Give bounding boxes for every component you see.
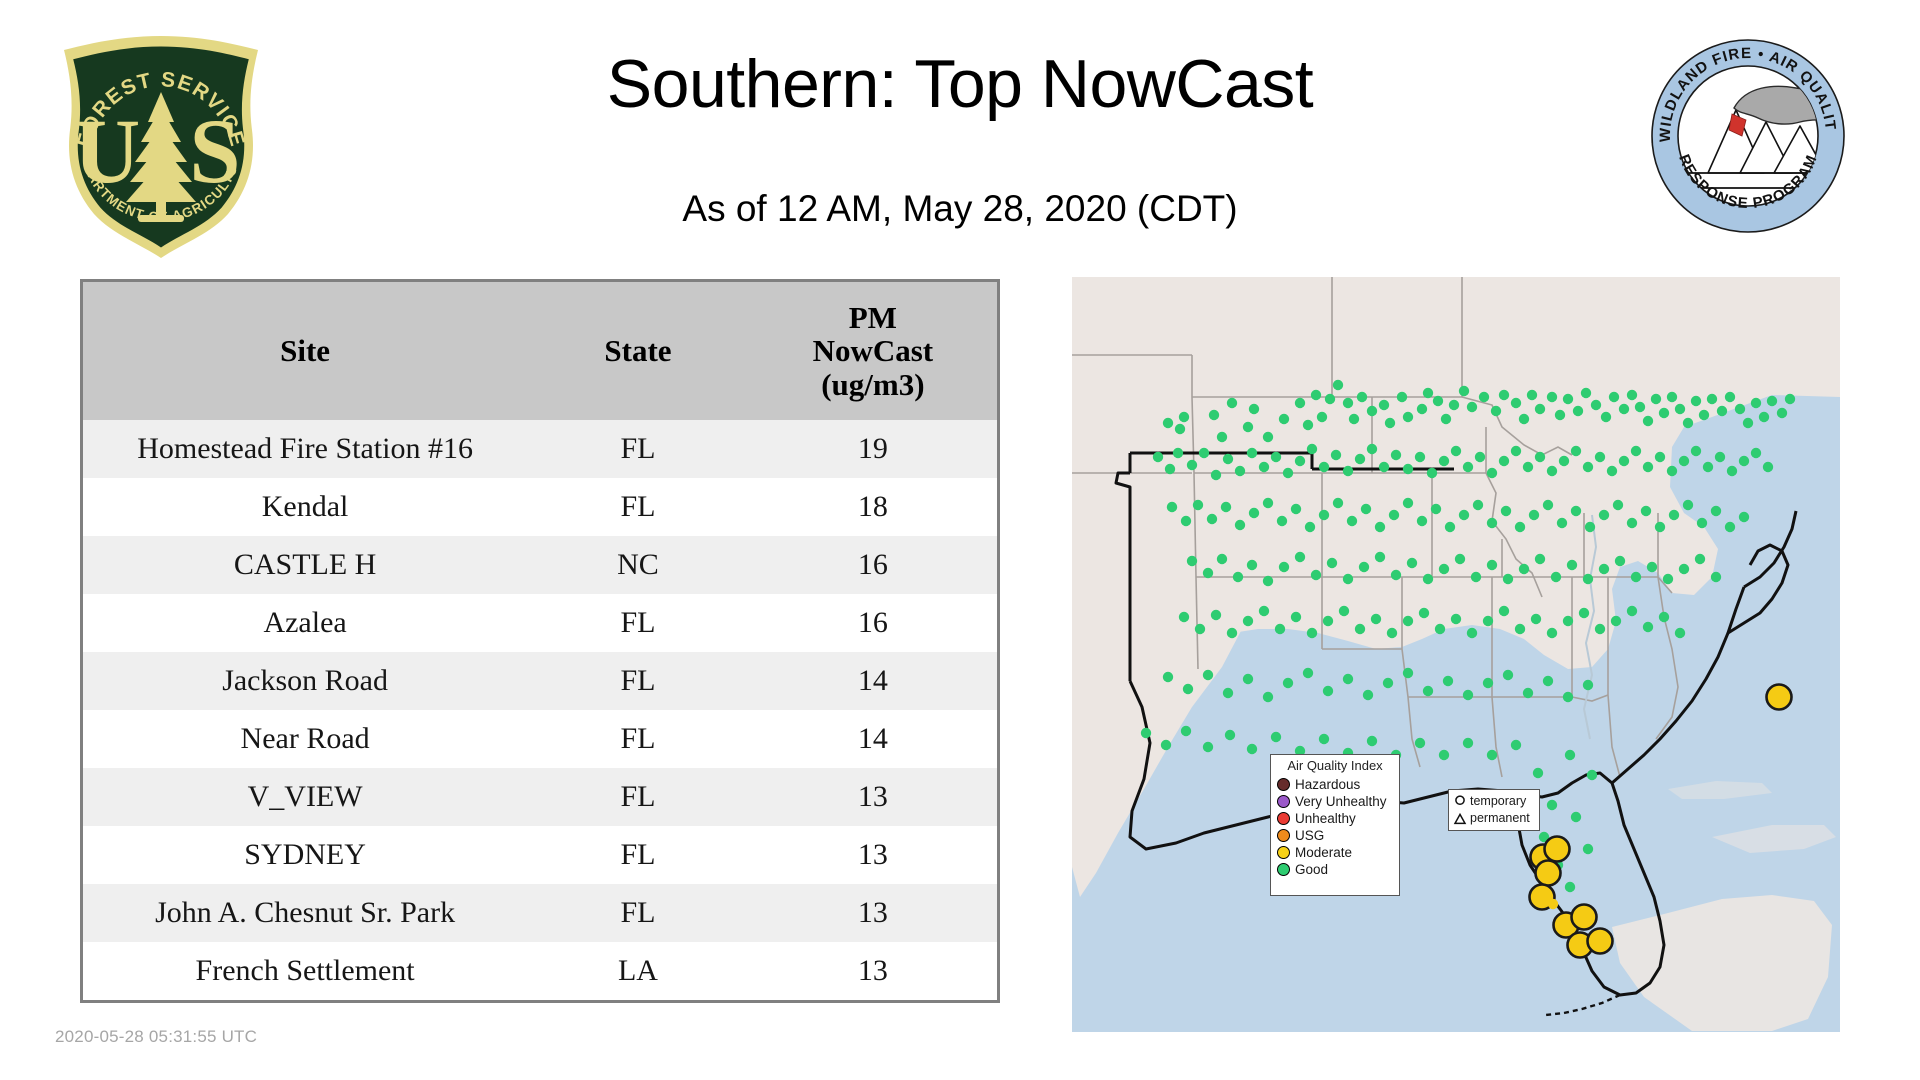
monitor-dot-good[interactable] — [1679, 564, 1689, 574]
monitor-dot-good[interactable] — [1785, 394, 1795, 404]
monitor-dot-good[interactable] — [1275, 624, 1285, 634]
monitor-dot-good[interactable] — [1161, 740, 1171, 750]
monitor-dot-good[interactable] — [1187, 556, 1197, 566]
monitor-dot-good[interactable] — [1311, 390, 1321, 400]
monitor-dot-good[interactable] — [1739, 456, 1749, 466]
monitor-dot-good[interactable] — [1499, 390, 1509, 400]
monitor-dot-good[interactable] — [1715, 452, 1725, 462]
table-row: KendalFL18 — [83, 478, 997, 536]
monitor-dot-good[interactable] — [1641, 506, 1651, 516]
monitor-dot-good[interactable] — [1383, 678, 1393, 688]
monitor-dot-good[interactable] — [1347, 516, 1357, 526]
monitor-dot-good[interactable] — [1291, 612, 1301, 622]
monitor-dot-good[interactable] — [1163, 418, 1173, 428]
monitor-dot-good[interactable] — [1475, 452, 1485, 462]
monitor-dot-good[interactable] — [1247, 448, 1257, 458]
cell-pm-nowcast: 19 — [749, 420, 997, 478]
monitor-dot-moderate[interactable] — [1588, 929, 1613, 954]
monitor-dot-good[interactable] — [1295, 552, 1305, 562]
monitor-dot-good[interactable] — [1343, 674, 1353, 684]
monitor-dot-good[interactable] — [1523, 462, 1533, 472]
monitor-dot-good[interactable] — [1511, 740, 1521, 750]
monitor-dot-good[interactable] — [1327, 558, 1337, 568]
monitor-dot-good[interactable] — [1403, 464, 1413, 474]
site-type-temporary-label: temporary — [1470, 795, 1526, 808]
monitor-dot-good[interactable] — [1163, 672, 1173, 682]
monitor-dot-good[interactable] — [1235, 520, 1245, 530]
monitor-dot-good[interactable] — [1675, 404, 1685, 414]
monitor-dot-good[interactable] — [1711, 572, 1721, 582]
cell-site: Kendal — [83, 478, 527, 536]
monitor-dot-good[interactable] — [1295, 456, 1305, 466]
monitor-dot-good[interactable] — [1449, 400, 1459, 410]
monitor-dot-good[interactable] — [1519, 414, 1529, 424]
monitor-dot-good[interactable] — [1533, 768, 1543, 778]
monitor-dot-good[interactable] — [1499, 456, 1509, 466]
monitor-dot-good[interactable] — [1379, 462, 1389, 472]
monitor-dot-good[interactable] — [1403, 668, 1413, 678]
monitor-dot-moderate[interactable] — [1767, 685, 1792, 710]
monitor-dot-good[interactable] — [1419, 608, 1429, 618]
monitor-dot-good[interactable] — [1343, 574, 1353, 584]
monitor-dot-good[interactable] — [1397, 392, 1407, 402]
monitor-dot-good[interactable] — [1631, 572, 1641, 582]
monitor-dot-good[interactable] — [1391, 570, 1401, 580]
monitor-dot-good[interactable] — [1173, 448, 1183, 458]
monitor-dot-good[interactable] — [1331, 450, 1341, 460]
monitor-dot-good[interactable] — [1695, 554, 1705, 564]
monitor-dot-good[interactable] — [1227, 398, 1237, 408]
aqi-legend-dot-icon — [1277, 812, 1290, 825]
monitor-dot-good[interactable] — [1697, 518, 1707, 528]
monitor-dot-good[interactable] — [1643, 416, 1653, 426]
monitor-dot-good[interactable] — [1601, 412, 1611, 422]
table-row: V_VIEWFL13 — [83, 768, 997, 826]
monitor-dot-good[interactable] — [1501, 506, 1511, 516]
monitor-dot-good[interactable] — [1141, 728, 1151, 738]
monitor-dot-good[interactable] — [1247, 744, 1257, 754]
monitor-dot-good[interactable] — [1375, 522, 1385, 532]
monitor-dot-good[interactable] — [1683, 418, 1693, 428]
monitor-dot-good[interactable] — [1669, 510, 1679, 520]
monitor-dot-good[interactable] — [1217, 432, 1227, 442]
monitor-dot-good[interactable] — [1527, 390, 1537, 400]
monitor-dot-good[interactable] — [1581, 388, 1591, 398]
monitor-dot-good[interactable] — [1599, 510, 1609, 520]
monitor-dot-good[interactable] — [1571, 812, 1581, 822]
monitor-dot-good[interactable] — [1667, 466, 1677, 476]
monitor-dot-good[interactable] — [1627, 606, 1637, 616]
monitor-dot-good[interactable] — [1491, 406, 1501, 416]
monitor-dot-good[interactable] — [1199, 448, 1209, 458]
monitor-dot-good[interactable] — [1451, 614, 1461, 624]
monitor-dot-good[interactable] — [1439, 456, 1449, 466]
monitor-dot-good[interactable] — [1263, 498, 1273, 508]
monitor-dot-good[interactable] — [1767, 396, 1777, 406]
monitor-dot-good[interactable] — [1727, 466, 1737, 476]
monitor-dot-good[interactable] — [1609, 392, 1619, 402]
monitor-dot-good[interactable] — [1467, 402, 1477, 412]
monitor-dot-good[interactable] — [1651, 394, 1661, 404]
monitor-dot-good[interactable] — [1455, 554, 1465, 564]
monitor-dot-good[interactable] — [1763, 462, 1773, 472]
monitor-dot-good[interactable] — [1583, 462, 1593, 472]
cell-pm-nowcast: 14 — [749, 710, 997, 768]
monitor-dot-good[interactable] — [1459, 510, 1469, 520]
monitor-dot-good[interactable] — [1403, 498, 1413, 508]
monitor-dot-good[interactable] — [1613, 500, 1623, 510]
monitor-dot-good[interactable] — [1487, 468, 1497, 478]
monitor-dot-good[interactable] — [1655, 522, 1665, 532]
monitor-dot-good[interactable] — [1739, 512, 1749, 522]
monitor-dot-good[interactable] — [1319, 510, 1329, 520]
monitor-dot-good[interactable] — [1319, 734, 1329, 744]
page-title: Southern: Top NowCast — [0, 50, 1920, 118]
monitor-dot-good[interactable] — [1291, 504, 1301, 514]
monitor-dot-good[interactable] — [1279, 414, 1289, 424]
monitor-dot-good[interactable] — [1385, 418, 1395, 428]
monitor-dot-good[interactable] — [1179, 612, 1189, 622]
cell-site: V_VIEW — [83, 768, 527, 826]
monitor-dot-good[interactable] — [1367, 406, 1377, 416]
monitor-dot-good[interactable] — [1557, 518, 1567, 528]
monitor-dot-good[interactable] — [1223, 688, 1233, 698]
monitor-dot-good[interactable] — [1359, 562, 1369, 572]
monitor-dot-good[interactable] — [1511, 446, 1521, 456]
monitor-dot-good[interactable] — [1599, 564, 1609, 574]
monitor-dot-good[interactable] — [1503, 574, 1513, 584]
monitor-dot-good[interactable] — [1307, 444, 1317, 454]
monitor-dot-good[interactable] — [1611, 616, 1621, 626]
monitor-dot-good[interactable] — [1217, 554, 1227, 564]
monitor-dot-good[interactable] — [1531, 614, 1541, 624]
monitor-dot-good[interactable] — [1691, 446, 1701, 456]
monitor-dot-good[interactable] — [1417, 404, 1427, 414]
monitor-dot-good[interactable] — [1431, 504, 1441, 514]
aqi-legend-dot-icon — [1277, 863, 1290, 876]
monitor-dot-good[interactable] — [1487, 560, 1497, 570]
monitor-dot-good[interactable] — [1647, 562, 1657, 572]
monitor-dot-good[interactable] — [1725, 522, 1735, 532]
aqi-legend-item: Very Unhealthy — [1277, 793, 1393, 810]
monitor-dot-good[interactable] — [1181, 726, 1191, 736]
monitor-dot-good[interactable] — [1435, 624, 1445, 634]
monitor-dot-good[interactable] — [1325, 394, 1335, 404]
aqi-legend-label: Hazardous — [1295, 778, 1360, 792]
aqi-legend-dot-icon — [1277, 829, 1290, 842]
monitor-dot-good[interactable] — [1445, 522, 1455, 532]
monitor-dot-good[interactable] — [1181, 516, 1191, 526]
aqi-legend-label: Good — [1295, 863, 1328, 877]
monitor-dot-good[interactable] — [1627, 390, 1637, 400]
monitor-dot-good[interactable] — [1333, 498, 1343, 508]
monitor-dot-good[interactable] — [1303, 420, 1313, 430]
monitor-dot-good[interactable] — [1583, 574, 1593, 584]
monitor-dot-good[interactable] — [1203, 742, 1213, 752]
monitor-dot-good[interactable] — [1439, 750, 1449, 760]
monitor-dot-good[interactable] — [1355, 454, 1365, 464]
monitor-dot-good[interactable] — [1451, 446, 1461, 456]
monitor-dot-good[interactable] — [1699, 410, 1709, 420]
monitor-dot-good[interactable] — [1423, 388, 1433, 398]
monitor-dot-good[interactable] — [1283, 678, 1293, 688]
monitor-dot-good[interactable] — [1503, 670, 1513, 680]
monitor-dot-good[interactable] — [1663, 574, 1673, 584]
monitor-dot-good[interactable] — [1467, 628, 1477, 638]
cell-pm-nowcast: 18 — [749, 478, 997, 536]
monitor-dot-good[interactable] — [1463, 738, 1473, 748]
monitor-dot-good[interactable] — [1227, 628, 1237, 638]
monitor-dot-good[interactable] — [1659, 408, 1669, 418]
aqi-legend-dot-icon — [1277, 795, 1290, 808]
monitor-dot-good[interactable] — [1349, 414, 1359, 424]
monitor-dot-good[interactable] — [1487, 750, 1497, 760]
monitor-dot-good[interactable] — [1583, 680, 1593, 690]
monitor-dot-good[interactable] — [1211, 610, 1221, 620]
monitor-dot-good[interactable] — [1407, 558, 1417, 568]
monitor-dot-good[interactable] — [1403, 412, 1413, 422]
monitor-dot-good[interactable] — [1175, 424, 1185, 434]
monitor-dot-good[interactable] — [1303, 668, 1313, 678]
monitor-dot-good[interactable] — [1735, 404, 1745, 414]
monitor-dot-good[interactable] — [1277, 516, 1287, 526]
monitor-dot-good[interactable] — [1619, 456, 1629, 466]
monitor-dot-good[interactable] — [1563, 692, 1573, 702]
monitor-dot-good[interactable] — [1307, 628, 1317, 638]
cell-site: Azalea — [83, 594, 527, 652]
monitor-dot-good[interactable] — [1683, 500, 1693, 510]
monitor-dot-good[interactable] — [1519, 564, 1529, 574]
monitor-dot-good[interactable] — [1555, 410, 1565, 420]
monitor-dot-good[interactable] — [1627, 518, 1637, 528]
monitor-dot-good[interactable] — [1567, 560, 1577, 570]
monitor-dot-good[interactable] — [1643, 462, 1653, 472]
monitor-dot-good[interactable] — [1579, 608, 1589, 618]
monitor-dot-good[interactable] — [1473, 500, 1483, 510]
monitor-dot-good[interactable] — [1535, 554, 1545, 564]
monitor-dot-good[interactable] — [1305, 522, 1315, 532]
monitor-dot-good[interactable] — [1711, 506, 1721, 516]
monitor-dot-good[interactable] — [1165, 464, 1175, 474]
monitor-dot-good[interactable] — [1759, 412, 1769, 422]
cell-pm-nowcast: 13 — [749, 884, 997, 942]
monitor-dot-good[interactable] — [1427, 468, 1437, 478]
monitor-dot-good[interactable] — [1203, 568, 1213, 578]
monitor-dot-good[interactable] — [1371, 614, 1381, 624]
monitor-dot-good[interactable] — [1379, 400, 1389, 410]
monitor-dot-good[interactable] — [1259, 606, 1269, 616]
monitor-dot-good[interactable] — [1311, 570, 1321, 580]
monitor-dot-good[interactable] — [1717, 406, 1727, 416]
monitor-dot-good[interactable] — [1559, 456, 1569, 466]
monitor-dot-good[interactable] — [1343, 466, 1353, 476]
monitor-dot-good[interactable] — [1389, 510, 1399, 520]
monitor-dot-good[interactable] — [1587, 770, 1597, 780]
monitor-dot-good[interactable] — [1547, 392, 1557, 402]
monitor-dot-good[interactable] — [1511, 398, 1521, 408]
monitor-dot-good[interactable] — [1319, 462, 1329, 472]
monitor-dot-good[interactable] — [1529, 510, 1539, 520]
monitor-dot-good[interactable] — [1441, 414, 1451, 424]
monitor-dot-good[interactable] — [1751, 398, 1761, 408]
monitor-dot-good[interactable] — [1243, 616, 1253, 626]
monitor-dot-good[interactable] — [1249, 508, 1259, 518]
monitor-dot-good[interactable] — [1607, 466, 1617, 476]
monitor-dot-good[interactable] — [1203, 670, 1213, 680]
monitor-dot-good[interactable] — [1547, 628, 1557, 638]
monitor-dot-good[interactable] — [1355, 624, 1365, 634]
monitor-dot-good[interactable] — [1679, 456, 1689, 466]
monitor-dot-good[interactable] — [1183, 684, 1193, 694]
monitor-dot-good[interactable] — [1223, 454, 1233, 464]
monitor-dot-moderate[interactable] — [1536, 861, 1561, 886]
monitor-dot-good[interactable] — [1221, 502, 1231, 512]
monitor-dot-good[interactable] — [1595, 452, 1605, 462]
monitor-dot-good[interactable] — [1483, 678, 1493, 688]
monitor-dot-good[interactable] — [1619, 404, 1629, 414]
monitor-dot-good[interactable] — [1443, 676, 1453, 686]
monitor-dot-good[interactable] — [1523, 688, 1533, 698]
monitor-dot-good[interactable] — [1271, 732, 1281, 742]
monitor-dot-good[interactable] — [1659, 612, 1669, 622]
monitor-dot-good[interactable] — [1243, 422, 1253, 432]
cell-site: Homestead Fire Station #16 — [83, 420, 527, 478]
monitor-dot-good[interactable] — [1471, 572, 1481, 582]
monitor-dot-good[interactable] — [1153, 452, 1163, 462]
monitor-dot-good[interactable] — [1249, 404, 1259, 414]
monitor-dot-good[interactable] — [1459, 386, 1469, 396]
monitor-dot-good[interactable] — [1483, 616, 1493, 626]
monitor-dot-good[interactable] — [1279, 562, 1289, 572]
air-quality-map[interactable]: Air Quality Index HazardousVery Unhealth… — [1072, 277, 1840, 1032]
monitor-dot-good[interactable] — [1565, 882, 1575, 892]
monitor-dot-good[interactable] — [1247, 560, 1257, 570]
monitor-dot-good[interactable] — [1583, 844, 1593, 854]
monitor-dot-good[interactable] — [1563, 394, 1573, 404]
monitor-dot-good[interactable] — [1479, 392, 1489, 402]
monitor-dot-good[interactable] — [1361, 504, 1371, 514]
monitor-dot-good[interactable] — [1691, 396, 1701, 406]
monitor-dot-moderate[interactable] — [1572, 905, 1597, 930]
monitor-dot-good[interactable] — [1417, 516, 1427, 526]
monitor-dot-good[interactable] — [1333, 380, 1343, 390]
monitor-dot-good[interactable] — [1233, 572, 1243, 582]
monitor-dot-good[interactable] — [1211, 470, 1221, 480]
monitor-dot-good[interactable] — [1515, 624, 1525, 634]
monitor-dot-good[interactable] — [1585, 522, 1595, 532]
monitor-dot-good[interactable] — [1703, 462, 1713, 472]
monitor-dot-good[interactable] — [1571, 446, 1581, 456]
aqi-legend-item: Unhealthy — [1277, 810, 1393, 827]
monitor-dot-good[interactable] — [1499, 606, 1509, 616]
monitor-dot-good[interactable] — [1387, 628, 1397, 638]
monitor-dot-good[interactable] — [1631, 446, 1641, 456]
monitor-dot-good[interactable] — [1367, 444, 1377, 454]
monitor-dot-good[interactable] — [1573, 406, 1583, 416]
monitor-dot-good[interactable] — [1667, 392, 1677, 402]
monitor-dot-good[interactable] — [1725, 392, 1735, 402]
monitor-dot-good[interactable] — [1263, 576, 1273, 586]
monitor-dot-good[interactable] — [1591, 400, 1601, 410]
monitor-dot-good[interactable] — [1317, 412, 1327, 422]
monitor-dot-good[interactable] — [1363, 690, 1373, 700]
monitor-dot-good[interactable] — [1343, 398, 1353, 408]
monitor-dot-good[interactable] — [1643, 622, 1653, 632]
monitor-dot-good[interactable] — [1263, 692, 1273, 702]
monitor-dot-good[interactable] — [1547, 466, 1557, 476]
cell-state: FL — [527, 768, 749, 826]
monitor-dot-good[interactable] — [1675, 628, 1685, 638]
monitor-dot-good[interactable] — [1707, 394, 1717, 404]
monitor-dot-good[interactable] — [1375, 552, 1385, 562]
monitor-dot-good[interactable] — [1415, 738, 1425, 748]
monitor-dot-moderate[interactable] — [1545, 837, 1570, 862]
monitor-dot-good[interactable] — [1543, 500, 1553, 510]
monitor-dot-good[interactable] — [1195, 624, 1205, 634]
monitor-dot-good[interactable] — [1777, 408, 1787, 418]
monitor-dot-good[interactable] — [1571, 506, 1581, 516]
monitor-dot-good[interactable] — [1423, 574, 1433, 584]
monitor-dot-good[interactable] — [1595, 624, 1605, 634]
monitor-dot-good[interactable] — [1463, 462, 1473, 472]
cell-pm-nowcast: 16 — [749, 536, 997, 594]
monitor-dot-good[interactable] — [1415, 452, 1425, 462]
monitor-dot-good[interactable] — [1615, 556, 1625, 566]
monitor-dot-good[interactable] — [1295, 398, 1305, 408]
monitor-dot-good[interactable] — [1179, 412, 1189, 422]
monitor-dot-good[interactable] — [1439, 564, 1449, 574]
monitor-dot-good[interactable] — [1323, 686, 1333, 696]
monitor-dot-good[interactable] — [1655, 452, 1665, 462]
monitor-dot-good[interactable] — [1235, 466, 1245, 476]
monitor-dot-good[interactable] — [1751, 448, 1761, 458]
monitor-dot-good[interactable] — [1193, 500, 1203, 510]
monitor-dot-good[interactable] — [1487, 518, 1497, 528]
monitor-dot-good[interactable] — [1339, 606, 1349, 616]
monitor-dot-good[interactable] — [1243, 674, 1253, 684]
monitor-dot-good[interactable] — [1323, 616, 1333, 626]
monitor-dot-good[interactable] — [1547, 800, 1557, 810]
monitor-dot-good[interactable] — [1463, 690, 1473, 700]
monitor-dot-good[interactable] — [1357, 392, 1367, 402]
monitor-dot-good[interactable] — [1263, 432, 1273, 442]
monitor-dot-good[interactable] — [1535, 452, 1545, 462]
monitor-dot-good[interactable] — [1207, 514, 1217, 524]
monitor-dot-good[interactable] — [1535, 404, 1545, 414]
monitor-dot-good[interactable] — [1515, 522, 1525, 532]
monitor-dot-good[interactable] — [1259, 462, 1269, 472]
monitor-dot-moderate[interactable] — [1548, 899, 1558, 909]
monitor-dot-good[interactable] — [1423, 686, 1433, 696]
monitor-dot-good[interactable] — [1551, 572, 1561, 582]
monitor-dot-good[interactable] — [1271, 452, 1281, 462]
monitor-dot-good[interactable] — [1563, 616, 1573, 626]
monitor-dot-good[interactable] — [1187, 460, 1197, 470]
monitor-dot-good[interactable] — [1635, 402, 1645, 412]
monitor-dot-good[interactable] — [1283, 468, 1293, 478]
monitor-dot-good[interactable] — [1391, 450, 1401, 460]
monitor-dot-good[interactable] — [1403, 616, 1413, 626]
monitor-dot-good[interactable] — [1565, 750, 1575, 760]
monitor-dot-good[interactable] — [1543, 676, 1553, 686]
monitor-dot-good[interactable] — [1225, 730, 1235, 740]
monitor-dot-good[interactable] — [1167, 502, 1177, 512]
monitor-dot-good[interactable] — [1367, 736, 1377, 746]
monitor-dot-good[interactable] — [1743, 418, 1753, 428]
pm-header-line-1: PM — [753, 301, 993, 334]
monitor-dot-good[interactable] — [1209, 410, 1219, 420]
monitor-dot-good[interactable] — [1433, 396, 1443, 406]
